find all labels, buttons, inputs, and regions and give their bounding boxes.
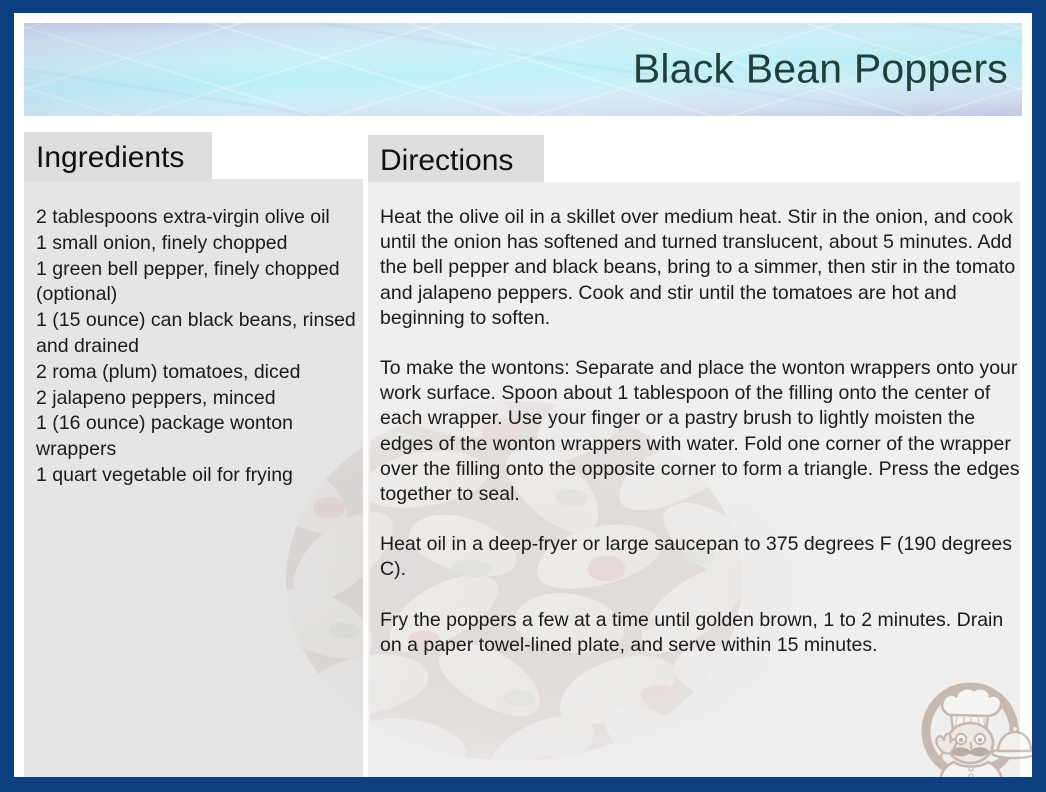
page-title: Black Bean Poppers — [633, 45, 1008, 92]
list-item: 2 roma (plum) tomatoes, diced — [36, 360, 361, 386]
list-item: 1 green bell pepper, finely chopped (opt… — [36, 257, 361, 309]
direction-step: Heat oil in a deep-fryer or large saucep… — [380, 532, 1030, 582]
ingredients-heading: Ingredients — [36, 141, 184, 175]
direction-step: Fry the poppers a few at a time until go… — [380, 608, 1030, 658]
recipe-card: Black Bean Poppers — [14, 13, 1032, 777]
list-item: 1 (16 ounce) package wonton wrappers — [36, 411, 361, 463]
list-item: 1 quart vegetable oil for frying — [36, 463, 361, 489]
list-item: 2 jalapeno peppers, minced — [36, 386, 361, 412]
direction-step: To make the wontons: Separate and place … — [380, 356, 1030, 507]
directions-steps: Heat the olive oil in a skillet over med… — [380, 205, 1030, 658]
recipe-card-frame: Black Bean Poppers — [0, 0, 1046, 792]
header-banner: Black Bean Poppers — [24, 23, 1022, 116]
list-item: 1 small onion, finely chopped — [36, 231, 361, 257]
list-item: 2 tablespoons extra-virgin olive oil — [36, 205, 361, 231]
directions-heading: Directions — [380, 144, 513, 178]
list-item: 1 (15 ounce) can black beans, rinsed and… — [36, 308, 361, 360]
ingredients-list: 2 tablespoons extra-virgin olive oil 1 s… — [36, 205, 361, 489]
direction-step: Heat the olive oil in a skillet over med… — [380, 205, 1030, 331]
